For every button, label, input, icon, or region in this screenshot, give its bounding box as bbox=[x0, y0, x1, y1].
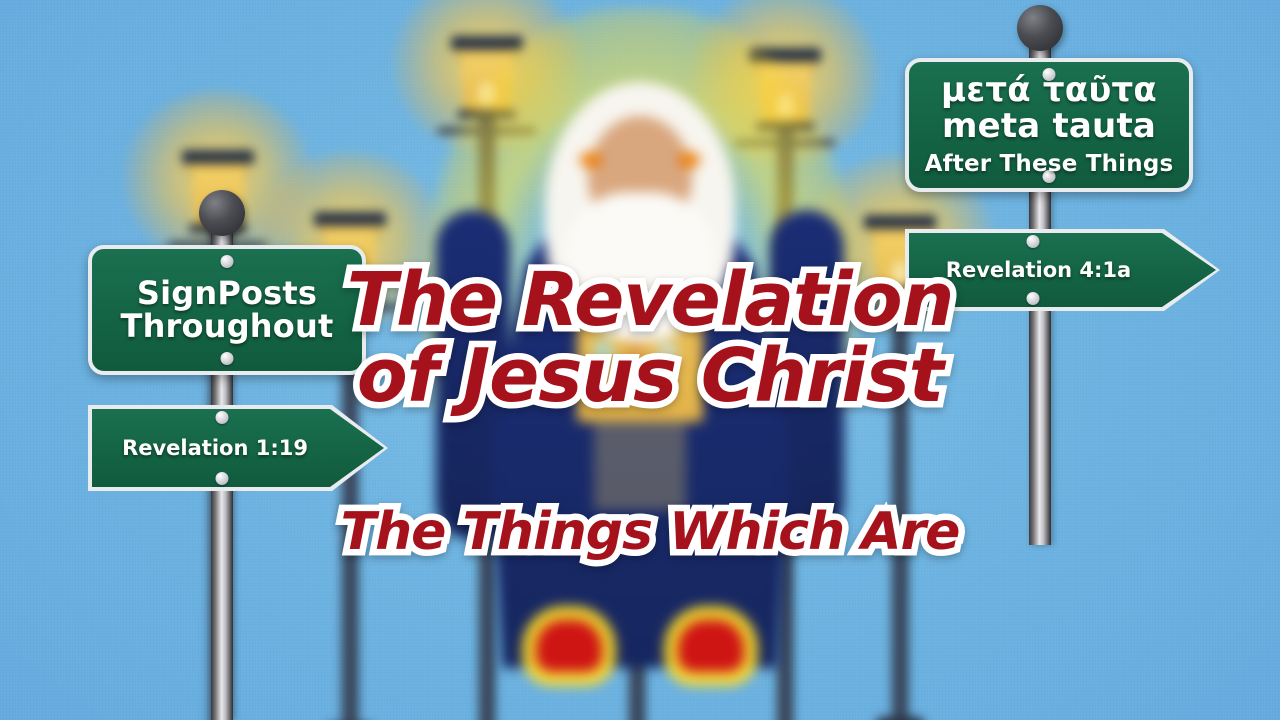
revelation-1-19-arrow[interactable]: Revelation 1:19 bbox=[88, 405, 388, 491]
meta-tauta-greek: μετά ταῦτα bbox=[941, 73, 1157, 108]
meta-tauta-gloss: After These Things bbox=[925, 153, 1174, 177]
left-pole-finial-icon bbox=[199, 190, 245, 236]
figure-left-eye bbox=[580, 152, 602, 168]
arrow-bolt-top-icon bbox=[1027, 235, 1040, 248]
signposts-throughout-board[interactable]: SignPosts Throughout bbox=[88, 245, 366, 375]
page-title: The Revelation of Jesus Christ bbox=[340, 262, 960, 414]
figure-right-shoe bbox=[678, 620, 744, 672]
meta-tauta-board[interactable]: μετά ταῦτα meta tauta After These Things bbox=[905, 58, 1193, 192]
arrow-bolt-bottom-icon bbox=[216, 472, 229, 485]
page-subtitle: The Things Which Are bbox=[320, 505, 980, 560]
signposts-throughout-line-2: Throughout bbox=[121, 310, 334, 343]
arrow-face: Revelation 1:19 bbox=[92, 409, 384, 487]
board-bolt-bottom-icon bbox=[221, 352, 234, 365]
poster-canvas: SignPosts Throughout Revelation 1:19 μετ… bbox=[0, 0, 1280, 720]
revelation-1-19-label: Revelation 1:19 bbox=[122, 436, 308, 460]
title-line-1: The Revelation bbox=[340, 262, 960, 338]
right-pole-finial-icon bbox=[1017, 5, 1063, 51]
figure-right-eye bbox=[678, 152, 700, 168]
meta-tauta-transliteration: meta tauta bbox=[942, 109, 1156, 144]
title-line-2: of Jesus Christ bbox=[340, 338, 960, 414]
board-bolt-top-icon bbox=[221, 255, 234, 268]
arrow-bolt-bottom-icon bbox=[1027, 292, 1040, 305]
arrow-bolt-top-icon bbox=[216, 411, 229, 424]
signposts-throughout-line-1: SignPosts bbox=[137, 277, 317, 310]
revelation-4-1a-label: Revelation 4:1a bbox=[946, 258, 1131, 282]
figure-left-shoe bbox=[536, 620, 602, 672]
